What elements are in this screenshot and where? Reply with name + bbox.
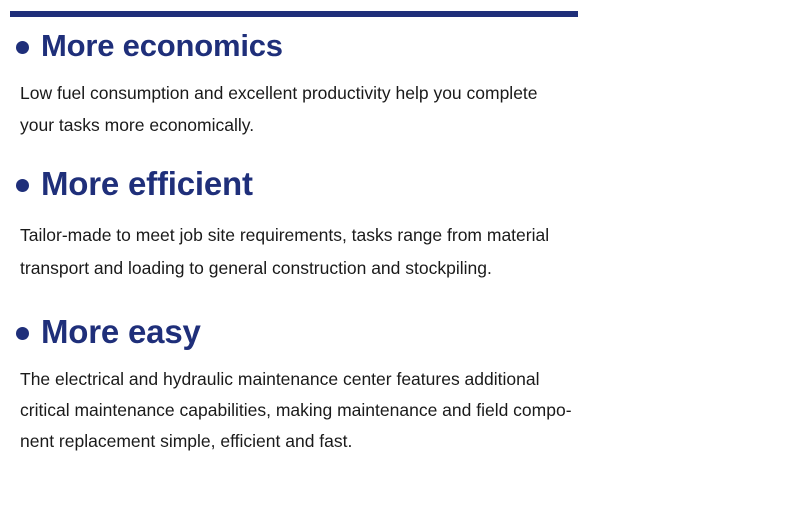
content-stack: More economics Low fuel consumption and … — [0, 24, 800, 457]
heading-easy: More easy — [41, 309, 201, 355]
body-text-economics: Low fuel consumption and excellent produ… — [0, 77, 800, 141]
body-line: The electrical and hydraulic maintenance… — [20, 364, 754, 395]
body-text-easy: The electrical and hydraulic maintenance… — [0, 364, 800, 457]
bullet-dot-icon — [16, 179, 29, 192]
body-line: transport and loading to general constru… — [20, 252, 754, 285]
body-line: Low fuel consumption and excellent produ… — [20, 77, 754, 109]
heading-row-efficient: More efficient — [0, 161, 800, 207]
body-line: nent replacement simple, efficient and f… — [20, 426, 754, 457]
body-line: critical maintenance capabilities, makin… — [20, 395, 754, 426]
slide-canvas: More economics Low fuel consumption and … — [0, 0, 800, 515]
heading-economics: More economics — [41, 24, 283, 68]
horizontal-rule — [10, 11, 578, 17]
heading-row-easy: More easy — [0, 309, 800, 355]
heading-row-economics: More economics — [0, 24, 800, 68]
feature-section-efficient: More efficient Tailor-made to meet job s… — [0, 161, 800, 285]
body-line: your tasks more economically. — [20, 109, 754, 141]
body-text-efficient: Tailor-made to meet job site requirement… — [0, 219, 800, 285]
feature-section-easy: More easy The electrical and hydraulic m… — [0, 309, 800, 457]
bullet-dot-icon — [16, 327, 29, 340]
feature-section-economics: More economics Low fuel consumption and … — [0, 24, 800, 141]
body-line: Tailor-made to meet job site requirement… — [20, 219, 754, 252]
heading-efficient: More efficient — [41, 161, 253, 207]
bullet-dot-icon — [16, 41, 29, 54]
